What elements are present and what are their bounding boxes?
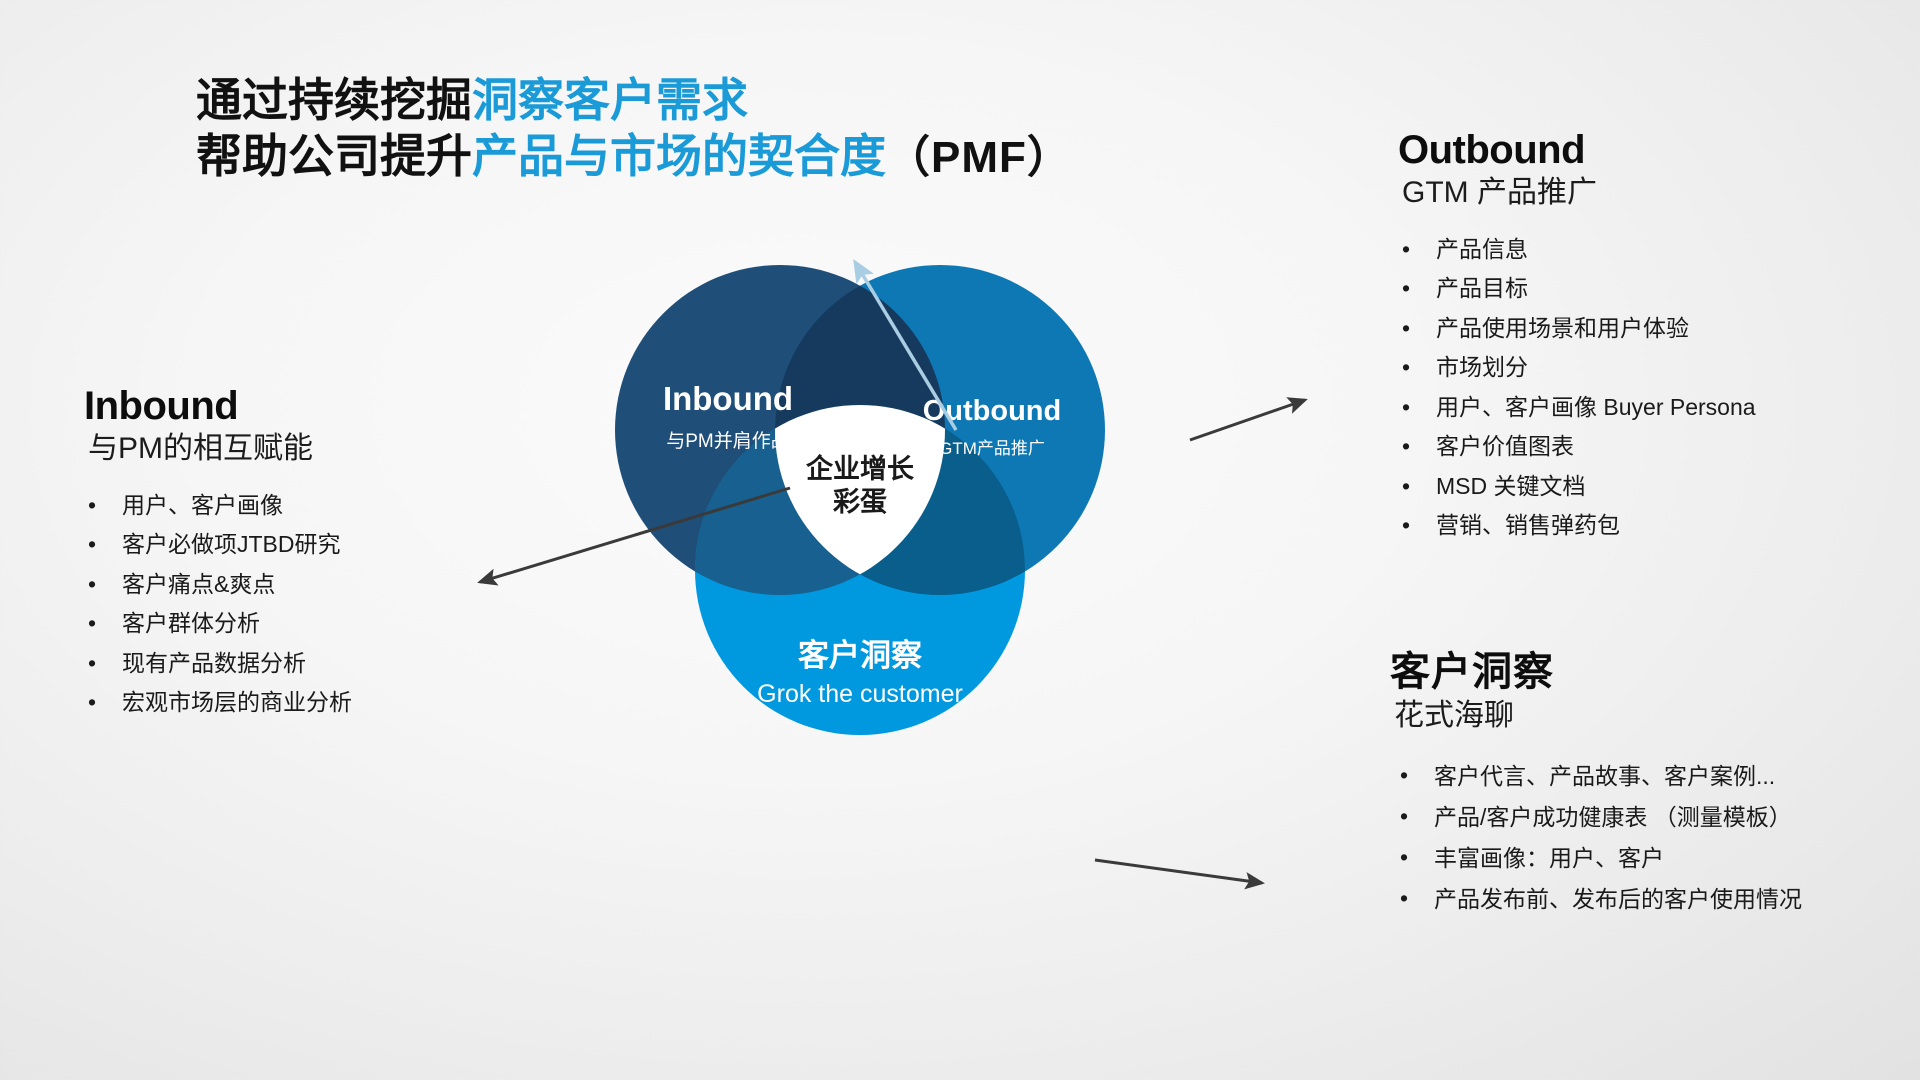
list-item-label: 客户群体分析: [122, 604, 260, 644]
title-line-1-black: 通过持续挖掘: [196, 74, 472, 126]
list-item: •产品发布前、发布后的客户使用情况: [1400, 879, 1920, 920]
list-item-label: 客户必做项JTBD研究: [122, 525, 341, 565]
arrow-insight-right: [1095, 860, 1262, 883]
list-item-label: 产品目标: [1436, 269, 1528, 308]
list-item-label: 用户、客户画像 Buyer Persona: [1436, 388, 1756, 427]
venn-label-insight-en: Grok the customer: [757, 680, 963, 708]
list-item: •客户价值图表: [1402, 427, 1918, 467]
bullet-icon: •: [88, 683, 122, 723]
venn-center-line1: 企业增长: [806, 453, 915, 484]
list-item-label: 产品/客户成功健康表 （测量模板）: [1434, 797, 1792, 838]
bullet-icon: •: [1402, 427, 1436, 467]
bullet-icon: •: [88, 565, 122, 605]
title-line-2-black: 帮助公司提升: [196, 130, 472, 182]
panel-insight-heading: 客户洞察: [1390, 650, 1920, 695]
list-item: •客户群体分析: [88, 604, 504, 644]
bullet-icon: •: [1400, 756, 1434, 796]
title-line-2-accent: 产品与市场的契合度: [472, 130, 886, 182]
list-item-label: 客户痛点&爽点: [122, 565, 275, 605]
panel-outbound-bullets: •产品信息 •产品目标 •产品使用场景和用户体验 •市场划分 •用户、客户画像 …: [1402, 230, 1918, 546]
venn-label-inbound-cn: 与PM并肩作战: [666, 430, 790, 452]
list-item: •客户痛点&爽点: [88, 565, 504, 605]
bullet-icon: •: [88, 525, 122, 565]
panel-inbound: Inbound 与PM的相互赋能 •用户、客户画像 •客户必做项JTBD研究 •…: [84, 384, 504, 723]
list-item-label: 宏观市场层的商业分析: [122, 683, 352, 723]
bullet-icon: •: [1400, 838, 1434, 878]
list-item-label: 用户、客户画像: [122, 486, 283, 526]
list-item: •产品信息: [1402, 230, 1918, 270]
bullet-icon: •: [1402, 230, 1436, 270]
list-item: •现有产品数据分析: [88, 644, 504, 684]
list-item-label: 丰富画像：用户、客户: [1434, 838, 1664, 879]
list-item: •客户代言、产品故事、客户案例...: [1400, 756, 1920, 797]
list-item: •产品使用场景和用户体验: [1402, 309, 1918, 349]
list-item-label: MSD 关键文档: [1436, 467, 1586, 506]
list-item-label: 产品使用场景和用户体验: [1436, 309, 1689, 348]
bullet-icon: •: [1402, 269, 1436, 309]
panel-outbound-heading: Outbound: [1398, 128, 1918, 172]
page-title: 通过持续挖掘洞察客户需求 帮助公司提升产品与市场的契合度（PMF）: [196, 72, 1196, 185]
title-pmf: （PMF）: [886, 133, 1072, 182]
list-item: •产品目标: [1402, 269, 1918, 309]
panel-outbound-subheading: GTM 产品推广: [1402, 174, 1918, 212]
title-line-1: 通过持续挖掘洞察客户需求: [196, 72, 1196, 128]
panel-customer-insight: 客户洞察 花式海聊 •客户代言、产品故事、客户案例... •产品/客户成功健康表…: [1390, 650, 1920, 920]
bullet-icon: •: [88, 486, 122, 526]
list-item-label: 现有产品数据分析: [122, 644, 306, 684]
bullet-icon: •: [1400, 879, 1434, 919]
list-item: •用户、客户画像: [88, 486, 504, 526]
list-item-label: 市场划分: [1436, 348, 1528, 387]
venn-label-bonus-en: Bonus: [815, 419, 905, 451]
panel-insight-subheading: 花式海聊: [1394, 697, 1920, 735]
list-item: •MSD 关键文档: [1402, 467, 1918, 507]
list-item: •产品/客户成功健康表 （测量模板）: [1400, 797, 1920, 838]
bullet-icon: •: [1402, 309, 1436, 349]
bullet-icon: •: [1400, 797, 1434, 837]
list-item-label: 营销、销售弹药包: [1436, 506, 1620, 545]
title-line-2: 帮助公司提升产品与市场的契合度（PMF）: [196, 128, 1196, 185]
list-item-label: 客户价值图表: [1436, 427, 1574, 466]
bullet-icon: •: [88, 644, 122, 684]
bullet-icon: •: [1402, 388, 1436, 428]
panel-inbound-subheading: 与PM的相互赋能: [88, 430, 504, 468]
arrow-outbound-right: [1190, 400, 1305, 440]
bullet-icon: •: [1402, 348, 1436, 388]
list-item: •用户、客户画像 Buyer Persona: [1402, 388, 1918, 428]
panel-inbound-heading: Inbound: [84, 384, 504, 428]
panel-inbound-bullets: •用户、客户画像 •客户必做项JTBD研究 •客户痛点&爽点 •客户群体分析 •…: [88, 486, 504, 723]
venn-label-insight-cn: 客户洞察: [798, 638, 923, 673]
list-item-label: 产品信息: [1436, 230, 1528, 269]
list-item: •市场划分: [1402, 348, 1918, 388]
list-item: •丰富画像：用户、客户: [1400, 838, 1920, 879]
title-line-1-accent: 洞察客户需求: [472, 74, 748, 126]
list-item: •宏观市场层的商业分析: [88, 683, 504, 723]
panel-insight-bullets: •客户代言、产品故事、客户案例... •产品/客户成功健康表 （测量模板） •丰…: [1400, 756, 1920, 920]
bullet-icon: •: [88, 604, 122, 644]
venn-label-outbound-cn: GTM产品推广: [939, 439, 1045, 458]
venn-diagram: Inbound 与PM并肩作战 Outbound GTM产品推广 Bonus 企…: [580, 230, 1140, 810]
panel-outbound: Outbound GTM 产品推广 •产品信息 •产品目标 •产品使用场景和用户…: [1398, 128, 1918, 546]
list-item-label: 客户代言、产品故事、客户案例...: [1434, 756, 1775, 797]
venn-center-line2: 彩蛋: [833, 487, 887, 517]
bullet-icon: •: [1402, 467, 1436, 507]
bullet-icon: •: [1402, 506, 1436, 546]
venn-label-outbound-en: Outbound: [923, 395, 1062, 427]
list-item: •客户必做项JTBD研究: [88, 525, 504, 565]
venn-label-inbound-en: Inbound: [663, 380, 793, 417]
list-item: •营销、销售弹药包: [1402, 506, 1918, 546]
list-item-label: 产品发布前、发布后的客户使用情况: [1434, 879, 1802, 920]
